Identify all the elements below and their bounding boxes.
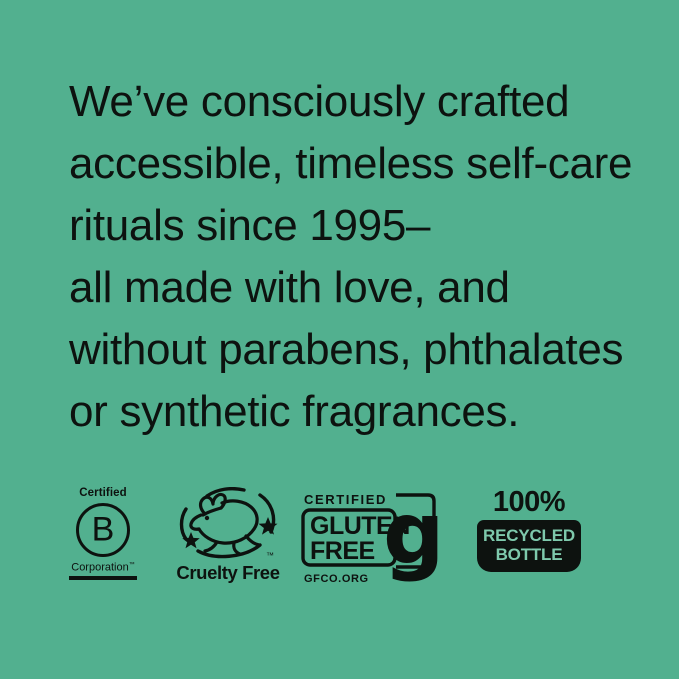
headline-text-block: We’ve consciously crafted accessible, ti… xyxy=(69,71,665,443)
b-corp-underline-rule xyxy=(69,576,137,579)
headline-line-6: or synthetic fragrances. xyxy=(69,381,665,443)
gf-certified-label: CERTIFIED xyxy=(304,492,387,507)
b-corp-letter: B xyxy=(79,512,127,546)
headline-line-5: without parabens, phthalates xyxy=(69,319,665,381)
b-corp-badge-icon: Certified B Corporation™ xyxy=(68,487,138,587)
headline-line-4: all made with love, and xyxy=(69,257,665,319)
leaping-bunny-icon: ™ xyxy=(174,487,282,561)
promo-graphic: We’ve consciously crafted accessible, ti… xyxy=(0,0,679,679)
recycled-label: RECYCLED xyxy=(483,526,575,545)
b-corp-certified-label: Certified xyxy=(68,487,138,500)
certification-badge-row: Certified B Corporation™ xyxy=(0,487,679,592)
recycled-bottle-box: RECYCLED BOTTLE xyxy=(477,520,581,572)
bottle-label: BOTTLE xyxy=(483,545,575,564)
headline-line-1: We’ve consciously crafted xyxy=(69,71,665,133)
svg-text:™: ™ xyxy=(266,551,274,560)
headline-line-3: rituals since 1995– xyxy=(69,195,665,257)
gf-trademark: ™ xyxy=(426,558,434,567)
gfco-logo-icon: CERTIFIED GLUTEN FREE g ™ GFCO.ORG xyxy=(300,487,440,585)
recycled-percent-label: 100% xyxy=(477,487,581,517)
gfco-url-label: GFCO.ORG xyxy=(304,573,369,585)
gf-free-label: FREE xyxy=(310,537,375,565)
b-corp-corporation-label: Corporation™ xyxy=(68,559,138,574)
b-corp-trademark: ™ xyxy=(129,562,135,568)
gluten-free-badge-icon: CERTIFIED GLUTEN FREE g ™ GFCO.ORG xyxy=(300,487,440,587)
gf-g-glyph: g xyxy=(383,487,440,584)
b-corp-circle-icon: B xyxy=(76,503,130,557)
headline-line-2: accessible, timeless self-care xyxy=(69,133,665,195)
cruelty-free-badge-icon: ™ Cruelty Free xyxy=(172,487,284,587)
recycled-bottle-badge-icon: 100% RECYCLED BOTTLE xyxy=(477,487,581,587)
cruelty-free-label: Cruelty Free xyxy=(172,562,284,584)
